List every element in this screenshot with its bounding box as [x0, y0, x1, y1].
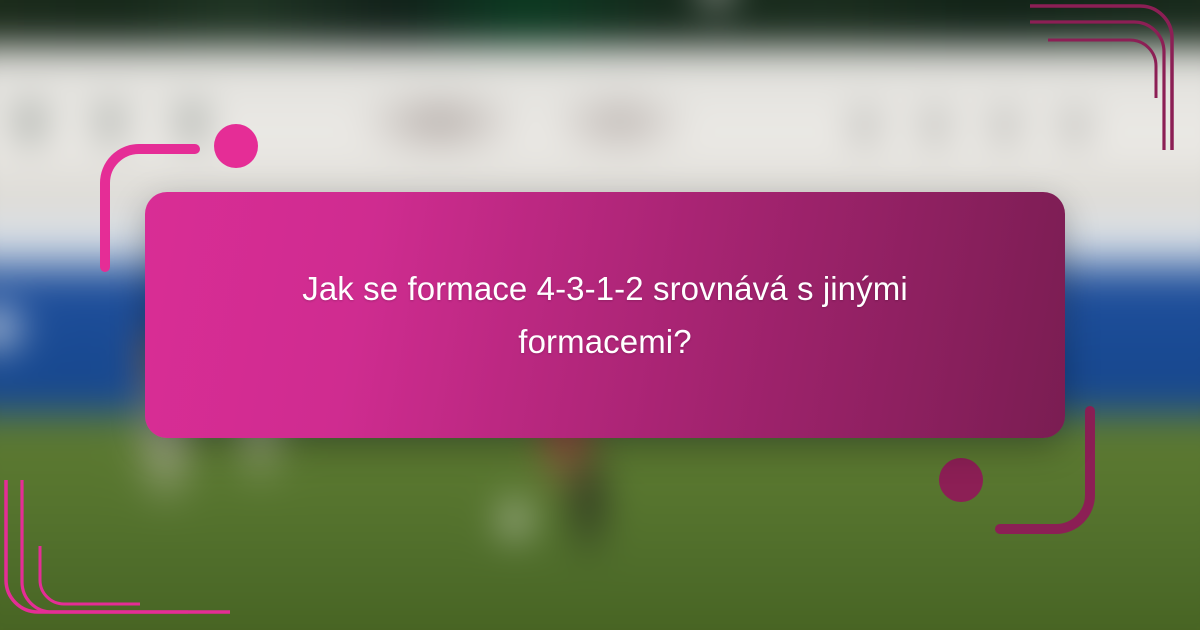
- question-title: Jak se formace 4-3-1-2 srovnává s jinými…: [235, 262, 975, 369]
- question-card: Jak se formace 4-3-1-2 srovnává s jinými…: [145, 192, 1065, 438]
- poster-canvas: Jak se formace 4-3-1-2 srovnává s jinými…: [0, 0, 1200, 630]
